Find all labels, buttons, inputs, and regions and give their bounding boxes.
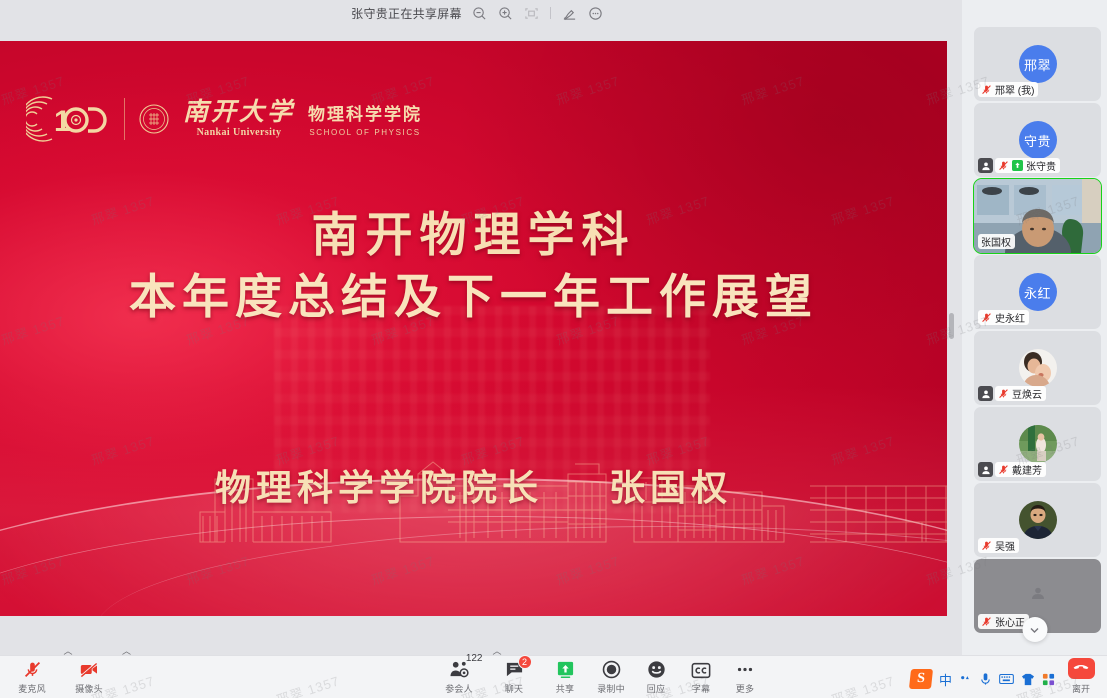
share-topbar: 张守贵正在共享屏幕 <box>0 0 955 26</box>
ime-skin-icon[interactable] <box>1021 673 1035 686</box>
participants-chevron[interactable]: ︿ <box>493 644 502 657</box>
keyboard-icon[interactable] <box>999 673 1014 685</box>
avatar: 邢翠 <box>1019 45 1057 83</box>
stage-scrollbar[interactable] <box>948 41 955 616</box>
chat-button[interactable]: 2 聊天 <box>487 659 541 695</box>
participants-label: 参会人 <box>445 682 473 695</box>
chat-unread-badge: 2 <box>518 655 532 669</box>
ime-mode-toggle[interactable]: 中 <box>939 670 952 689</box>
host-icon <box>978 386 993 401</box>
participant-tile[interactable]: 戴建芳 <box>974 407 1101 481</box>
nankai-seal-icon <box>139 104 169 134</box>
school-name-en: SCHOOL OF PHYSICS <box>309 128 420 137</box>
voice-input-icon[interactable] <box>979 672 992 686</box>
participant-tile[interactable]: 豆焕云 <box>974 331 1101 405</box>
svg-text:1: 1 <box>54 105 71 138</box>
sogou-ime-logo-icon[interactable]: S <box>909 669 933 689</box>
participant-name: 戴建芳 <box>1012 462 1042 477</box>
reactions-label: 回应 <box>647 682 665 695</box>
mic-muted-icon <box>981 540 992 551</box>
topbar-divider <box>550 7 551 19</box>
anniversary-100-icon: 1 <box>26 93 110 145</box>
slide-title-block: 南开物理学科 本年度总结及下一年工作展望 <box>0 204 947 328</box>
punctuation-icon[interactable] <box>959 673 972 686</box>
participant-name-bar: 张守贵 <box>978 158 1060 173</box>
nankai-wordmark: 南开大学 Nankai University 物理科学学院 SCHOOL OF … <box>183 100 422 139</box>
screen-sharing-icon <box>1012 160 1023 171</box>
camera-off-icon <box>79 660 99 679</box>
slide-subtitle-block: 物理科学学院院长 张国权 <box>0 459 947 511</box>
logo-divider <box>124 98 125 140</box>
participant-name-bar: 戴建芳 <box>978 462 1046 477</box>
participant-name-bar: 张国权 <box>978 234 1015 249</box>
mic-button[interactable]: ︿ 麦克风 <box>5 659 59 695</box>
shared-screen-stage[interactable]: 1 南开大学 <box>0 41 955 616</box>
host-icon <box>978 462 993 477</box>
input-method-tray[interactable]: S 中 <box>910 669 1055 689</box>
closed-captions-icon <box>691 662 711 679</box>
slide-title-line2: 本年度总结及下一年工作展望 <box>0 266 947 328</box>
record-label: 录制中 <box>597 682 625 695</box>
participant-name-bar: 吴强 <box>978 538 1019 553</box>
speaker-role: 物理科学学院院长 <box>215 467 543 508</box>
avatar <box>1019 425 1057 463</box>
avatar-photo <box>1019 349 1057 387</box>
participant-name-bar: 豆焕云 <box>978 386 1046 401</box>
participant-tile[interactable]: 永红 史永红 <box>974 255 1101 329</box>
participant-name: 张心正 <box>995 614 1025 629</box>
meeting-toolbar: ︿ 麦克风 ︿ 摄像头 <box>0 655 1107 698</box>
participant-name-bar: 邢翠 (我) <box>978 82 1038 97</box>
participant-name: 张国权 <box>981 234 1011 249</box>
camera-label: 摄像头 <box>75 682 103 695</box>
speaker-name: 张国权 <box>609 467 732 508</box>
mic-muted-icon <box>981 84 992 95</box>
participant-name: 张守贵 <box>1026 158 1056 173</box>
camera-button[interactable]: ︿ 摄像头 <box>62 659 116 695</box>
participant-tile[interactable]: 吴强 <box>974 483 1101 557</box>
participant-name: 邢翠 (我) <box>995 82 1034 97</box>
university-name-en: Nankai University <box>197 127 282 138</box>
participants-count: 122 <box>466 653 483 664</box>
more-button[interactable]: 更多 <box>718 659 772 695</box>
leave-meeting-button[interactable]: 离开 <box>1061 658 1101 695</box>
mic-label: 麦克风 <box>18 682 46 695</box>
participants-panel[interactable]: 邢翠 邢翠 (我) 守贵 <box>962 0 1107 655</box>
mic-options-chevron[interactable]: ︿ <box>64 644 73 657</box>
mic-muted-icon <box>23 660 42 679</box>
mic-muted-icon <box>998 388 1009 399</box>
more-label: 更多 <box>736 682 754 695</box>
slide-logo-row: 1 南开大学 <box>26 93 422 145</box>
mic-muted-icon <box>981 616 992 627</box>
mic-muted-icon <box>998 464 1009 475</box>
participant-tile[interactable]: 邢翠 邢翠 (我) <box>974 27 1101 101</box>
smiley-reaction-icon <box>647 660 666 679</box>
avatar: 永红 <box>1019 273 1057 311</box>
annotate-icon[interactable] <box>561 5 578 22</box>
participant-name: 豆焕云 <box>1012 386 1042 401</box>
participants-button[interactable]: 122 ︿ 参会人 <box>432 659 486 695</box>
no-video-avatar-icon <box>1030 585 1046 601</box>
avatar: 守贵 <box>1019 121 1057 159</box>
share-label: 共享 <box>556 682 574 695</box>
participant-name: 吴强 <box>995 538 1015 553</box>
school-name-cn: 物理科学学院 <box>308 100 422 125</box>
stage-scrollbar-thumb[interactable] <box>949 313 954 339</box>
leave-phone-icon <box>1068 658 1095 679</box>
mic-muted-icon <box>981 312 992 323</box>
topbar-more-icon[interactable] <box>587 5 604 22</box>
camera-options-chevron[interactable]: ︿ <box>122 644 131 657</box>
participant-name: 史永红 <box>995 310 1025 325</box>
university-name-cn: 南开大学 <box>183 100 295 127</box>
chat-label: 聊天 <box>505 682 523 695</box>
participant-name-bar: 史永红 <box>978 310 1029 325</box>
recording-icon <box>602 660 621 679</box>
avatar-photo <box>1019 425 1057 463</box>
zoom-meeting-window: 张守贵正在共享屏幕 <box>0 0 1107 698</box>
presentation-slide: 1 南开大学 <box>0 41 947 616</box>
more-dots-icon <box>735 660 755 679</box>
fit-screen-icon <box>523 5 540 22</box>
avatar <box>1019 501 1057 539</box>
participant-tile-active-speaker[interactable]: 张国权 <box>974 179 1101 253</box>
zoom-out-icon[interactable] <box>471 5 488 22</box>
zoom-in-icon[interactable] <box>497 5 514 22</box>
slide-title-line1: 南开物理学科 <box>0 204 947 266</box>
ime-apps-icon[interactable] <box>1042 673 1055 686</box>
scroll-down-button[interactable] <box>1022 617 1047 642</box>
share-status-text: 张守贵正在共享屏幕 <box>351 5 462 22</box>
leave-label: 离开 <box>1072 682 1090 695</box>
avatar <box>1019 349 1057 387</box>
host-icon <box>978 158 993 173</box>
mic-muted-icon <box>998 160 1009 171</box>
captions-label: 字幕 <box>692 682 710 695</box>
participant-tile[interactable]: 守贵 <box>974 103 1101 177</box>
share-screen-icon <box>556 660 575 679</box>
avatar-photo <box>1019 501 1057 539</box>
